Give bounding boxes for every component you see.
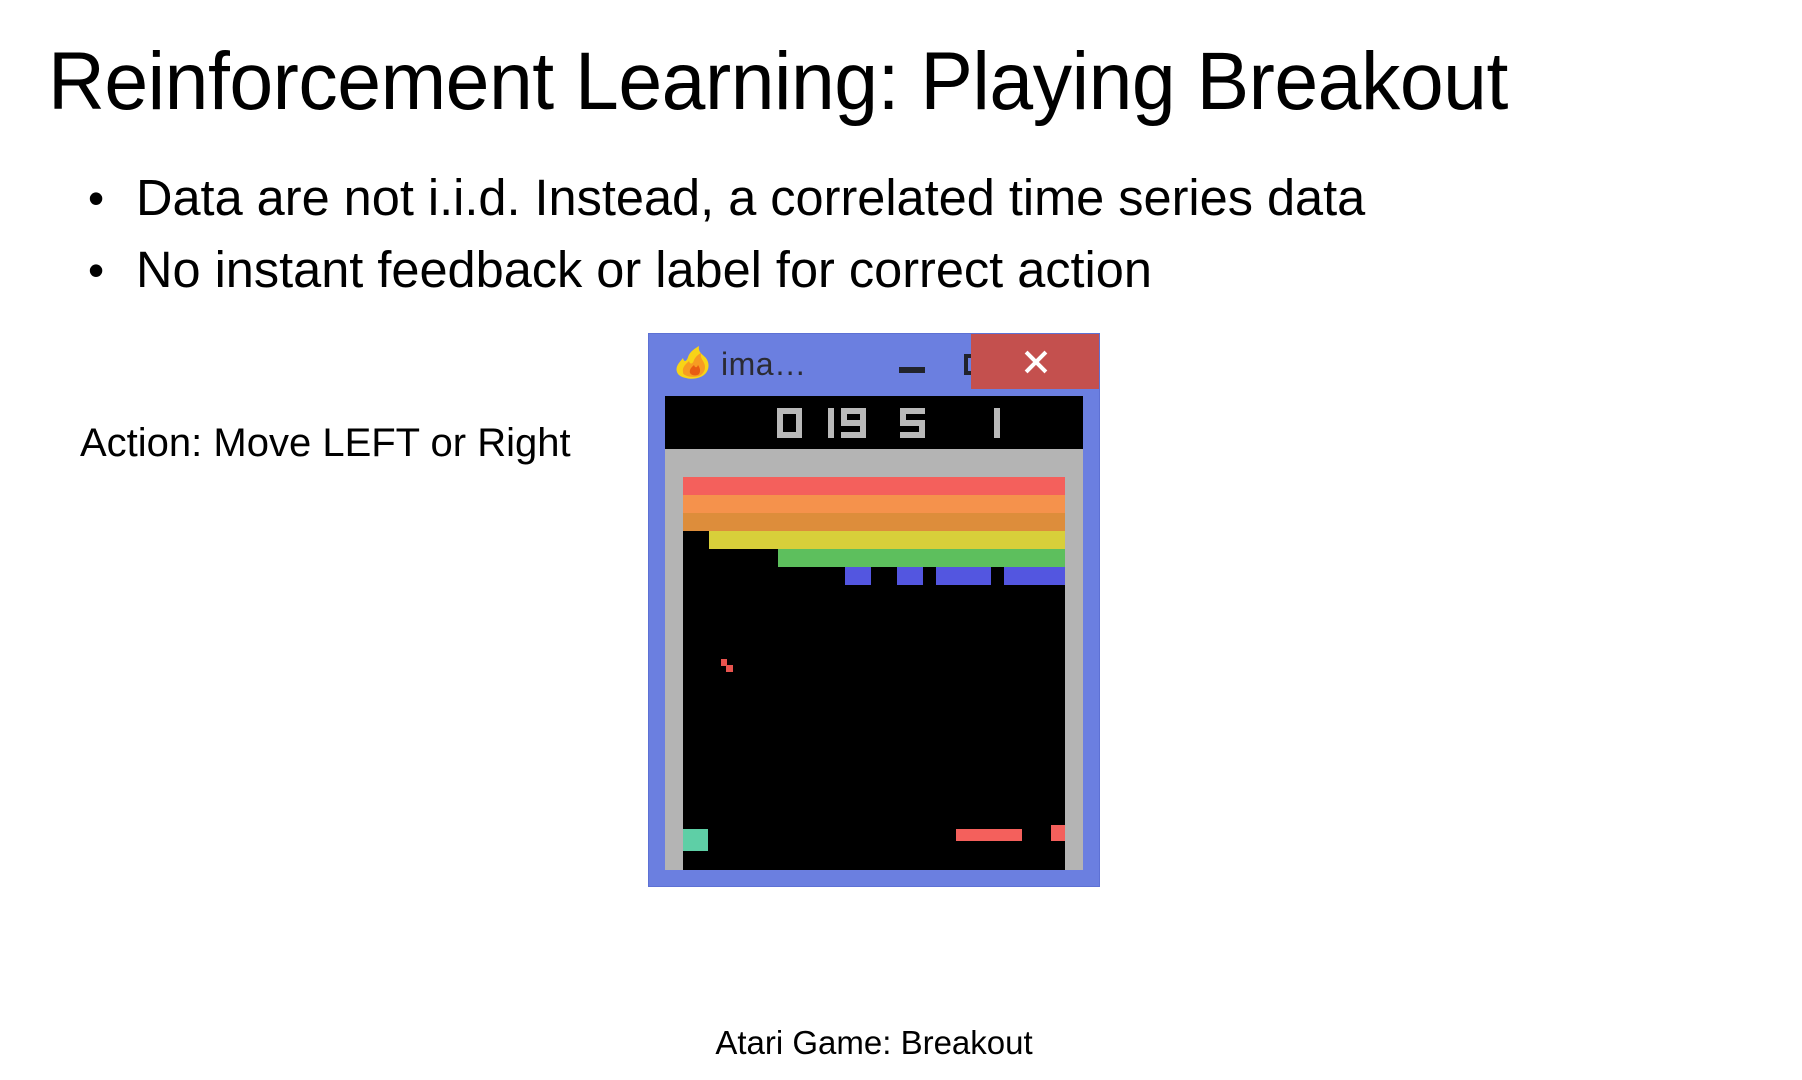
- close-icon: [1022, 349, 1048, 375]
- brick-segment: [683, 495, 1065, 513]
- brick-segment: [683, 477, 1065, 495]
- brick-row: [683, 567, 1065, 585]
- score-points: [777, 408, 866, 438]
- bullet-list: • Data are not i.i.d. Instead, a correla…: [80, 162, 1580, 306]
- ball: [726, 665, 733, 672]
- score-digit: [809, 408, 834, 438]
- minimize-icon: [899, 367, 925, 373]
- score-lives: [900, 408, 925, 438]
- action-description-label: Action: Move LEFT or Right: [80, 416, 571, 470]
- brick-segment: [683, 513, 1065, 531]
- corner-block-red: [1051, 825, 1065, 841]
- wall-right: [1065, 449, 1083, 870]
- bullet-text: No instant feedback or label for correct…: [136, 234, 1152, 306]
- bullet-marker-icon: •: [88, 234, 104, 306]
- flame-icon: [673, 346, 711, 380]
- playfield: [683, 477, 1065, 870]
- bullet-text: Data are not i.i.d. Instead, a correlate…: [136, 162, 1365, 234]
- wall-left: [665, 449, 683, 870]
- brick-row: [683, 531, 1065, 549]
- brick-row: [683, 495, 1065, 513]
- paddle[interactable]: [956, 829, 1022, 841]
- score-digit: [975, 408, 1000, 438]
- figure-caption: Atari Game: Breakout: [649, 1022, 1099, 1064]
- atari-game-window: ima…: [649, 334, 1099, 886]
- list-item: • Data are not i.i.d. Instead, a correla…: [80, 162, 1580, 234]
- list-item: • No instant feedback or label for corre…: [80, 234, 1580, 306]
- brick-segment: [778, 549, 1065, 567]
- brick-segment: [897, 567, 923, 585]
- score-digit: [777, 408, 802, 438]
- brick-row: [683, 513, 1065, 531]
- brick-segment: [1004, 567, 1065, 585]
- corner-block-teal: [683, 829, 708, 851]
- brick-row: [683, 549, 1065, 567]
- score-strip: [665, 396, 1083, 449]
- score-digit: [841, 408, 866, 438]
- wall-top: [665, 449, 1083, 477]
- close-button[interactable]: [971, 334, 1099, 389]
- brick-segment: [936, 567, 991, 585]
- window-title-label: ima…: [721, 345, 807, 383]
- game-screen: [665, 396, 1083, 870]
- brick-segment: [709, 531, 1065, 549]
- score-level: [975, 408, 1000, 438]
- page-title: Reinforcement Learning: Playing Breakout: [48, 34, 1680, 130]
- window-titlebar[interactable]: ima…: [649, 334, 1099, 392]
- brick-row: [683, 477, 1065, 495]
- minimize-button[interactable]: [882, 341, 942, 385]
- bullet-marker-icon: •: [88, 162, 104, 234]
- brick-segment: [845, 567, 871, 585]
- score-digit: [900, 408, 925, 438]
